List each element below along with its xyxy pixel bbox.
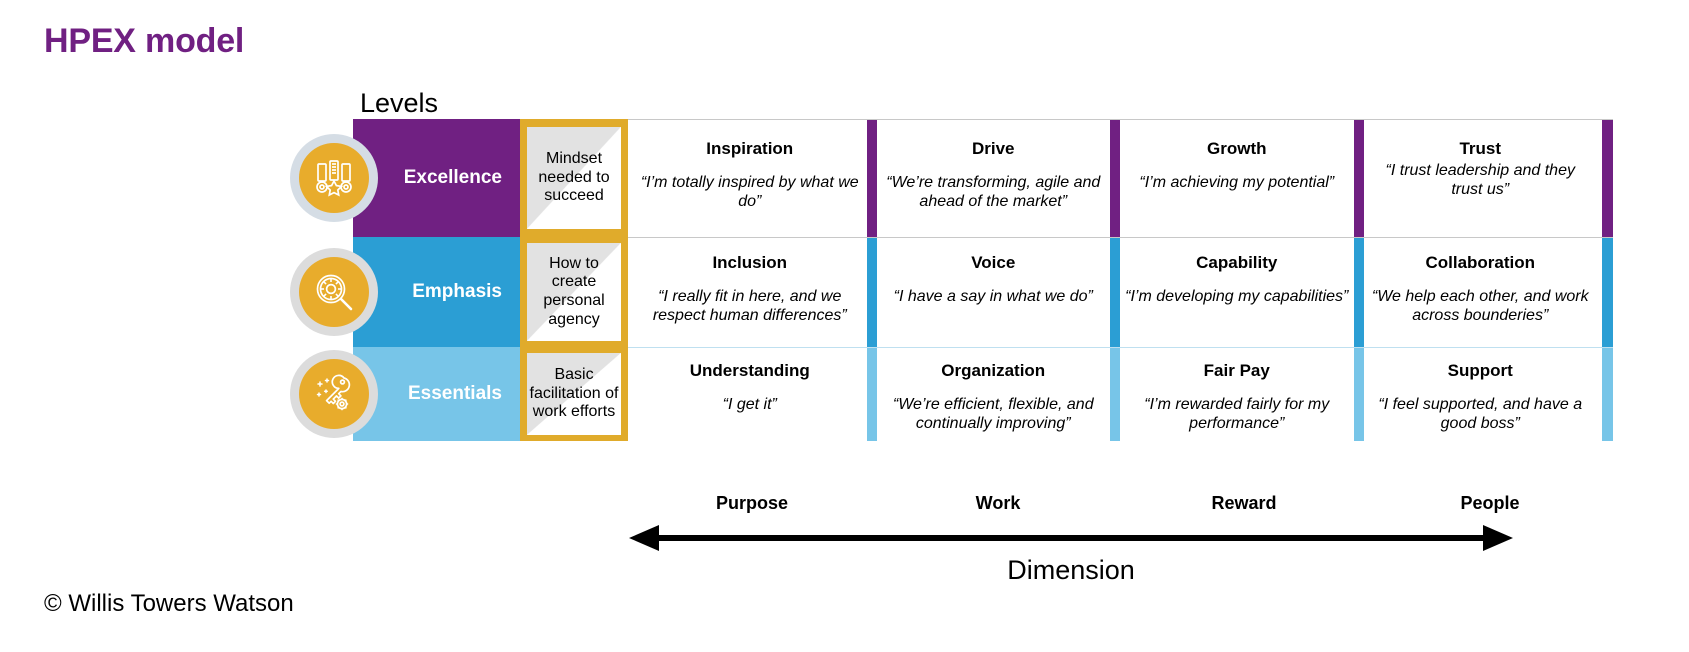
dimension-axis-label: Dimension: [629, 555, 1513, 586]
cell-emphasis-reward[interactable]: Capability “I’m developing my capabiliti…: [1115, 238, 1359, 347]
page-title: HPEX model: [44, 22, 244, 61]
cell-excellence-people[interactable]: Trust “I trust leadership and they trust…: [1359, 120, 1603, 237]
level-description-excellence: Mindset needed to succeed: [527, 150, 621, 206]
level-badge-emphasis: [290, 248, 378, 336]
cell-quote: “I feel supported, and have a good boss”: [1369, 395, 1593, 434]
row-edge-cap-essentials: [1602, 348, 1613, 441]
magnifier-gear-icon: [299, 257, 369, 327]
levels-axis-label: Levels: [360, 88, 438, 119]
cell-excellence-purpose[interactable]: Inspiration “I’m totally inspired by wha…: [628, 120, 872, 237]
cell-title: Growth: [1207, 140, 1267, 159]
cell-quote: “I trust leadership and they trust us”: [1369, 161, 1593, 200]
level-description-cell-essentials: Basic facilitation of work efforts: [520, 347, 628, 441]
cell-quote: “I get it”: [723, 395, 777, 415]
row-edge-cap-excellence: [1602, 120, 1613, 237]
cell-emphasis-purpose[interactable]: Inclusion “I really fit in here, and we …: [628, 238, 872, 347]
matrix-row-excellence: Excellence Mindset needed to succeed Ins…: [353, 119, 1613, 237]
matrix-cells-essentials: Understanding “I get it” Organization “W…: [628, 347, 1613, 441]
cell-title: Drive: [972, 140, 1015, 159]
cell-quote: “We’re efficient, flexible, and continua…: [882, 395, 1106, 434]
matrix-row-emphasis: Emphasis How to create personal agency I…: [353, 237, 1613, 347]
matrix-row-essentials: Essentials Basic facilitation of work ef…: [353, 347, 1613, 441]
cell-title: Voice: [971, 254, 1015, 273]
cell-title: Trust: [1459, 140, 1501, 159]
level-label-emphasis: Emphasis: [353, 237, 520, 347]
cell-title: Collaboration: [1425, 254, 1535, 273]
level-badge-essentials: [290, 350, 378, 438]
dimension-labels: Purpose Work Reward People: [629, 493, 1613, 514]
cell-title: Inclusion: [712, 254, 787, 273]
level-label-excellence: Excellence: [353, 119, 520, 237]
cell-excellence-work[interactable]: Drive “We’re transforming, agile and ahe…: [872, 120, 1116, 237]
folded-note-essentials: Basic facilitation of work efforts: [527, 353, 621, 435]
cell-title: Inspiration: [706, 140, 793, 159]
cell-title: Support: [1448, 362, 1513, 381]
level-description-cell-excellence: Mindset needed to succeed: [520, 119, 628, 237]
hpex-model-slide: HPEX model Levels: [0, 0, 1689, 652]
key-gear-icon: [299, 359, 369, 429]
cell-essentials-work[interactable]: Organization “We’re efficient, flexible,…: [872, 348, 1116, 441]
cell-quote: “I really fit in here, and we respect hu…: [638, 287, 862, 326]
matrix-cells-excellence: Inspiration “I’m totally inspired by wha…: [628, 119, 1613, 237]
copyright-notice: © Willis Towers Watson: [44, 590, 294, 618]
cell-quote: “I’m achieving my potential”: [1139, 173, 1334, 193]
hpex-matrix: Excellence Mindset needed to succeed Ins…: [353, 119, 1613, 441]
level-label-essentials: Essentials: [353, 347, 520, 441]
cell-quote: “I have a say in what we do”: [894, 287, 1093, 307]
medals-icon: [299, 143, 369, 213]
cell-excellence-reward[interactable]: Growth “I’m achieving my potential”: [1115, 120, 1359, 237]
cell-quote: “I’m developing my capabilities”: [1125, 287, 1348, 307]
cell-title: Organization: [941, 362, 1045, 381]
cell-essentials-people[interactable]: Support “I feel supported, and have a go…: [1359, 348, 1603, 441]
dimension-arrow: [629, 525, 1513, 551]
dimension-label-reward: Reward: [1121, 493, 1367, 514]
cell-title: Understanding: [690, 362, 810, 381]
level-badge-excellence: [290, 134, 378, 222]
cell-emphasis-people[interactable]: Collaboration “We help each other, and w…: [1359, 238, 1603, 347]
matrix-cells-emphasis: Inclusion “I really fit in here, and we …: [628, 237, 1613, 347]
cell-quote: “I’m totally inspired by what we do”: [638, 173, 862, 212]
folded-note-excellence: Mindset needed to succeed: [527, 127, 621, 229]
cell-quote: “We help each other, and work across bou…: [1369, 287, 1593, 326]
dimension-label-work: Work: [875, 493, 1121, 514]
cell-essentials-reward[interactable]: Fair Pay “I’m rewarded fairly for my per…: [1115, 348, 1359, 441]
cell-title: Capability: [1196, 254, 1277, 273]
level-description-cell-emphasis: How to create personal agency: [520, 237, 628, 347]
dimension-label-purpose: Purpose: [629, 493, 875, 514]
cell-title: Fair Pay: [1204, 362, 1270, 381]
row-edge-cap-emphasis: [1602, 238, 1613, 347]
cell-emphasis-work[interactable]: Voice “I have a say in what we do”: [872, 238, 1116, 347]
level-description-essentials: Basic facilitation of work efforts: [527, 366, 621, 422]
cell-quote: “We’re transforming, agile and ahead of …: [882, 173, 1106, 212]
folded-note-emphasis: How to create personal agency: [527, 243, 621, 341]
level-description-emphasis: How to create personal agency: [527, 255, 621, 329]
dimension-label-people: People: [1367, 493, 1613, 514]
cell-essentials-purpose[interactable]: Understanding “I get it”: [628, 348, 872, 441]
cell-quote: “I’m rewarded fairly for my performance”: [1125, 395, 1349, 434]
